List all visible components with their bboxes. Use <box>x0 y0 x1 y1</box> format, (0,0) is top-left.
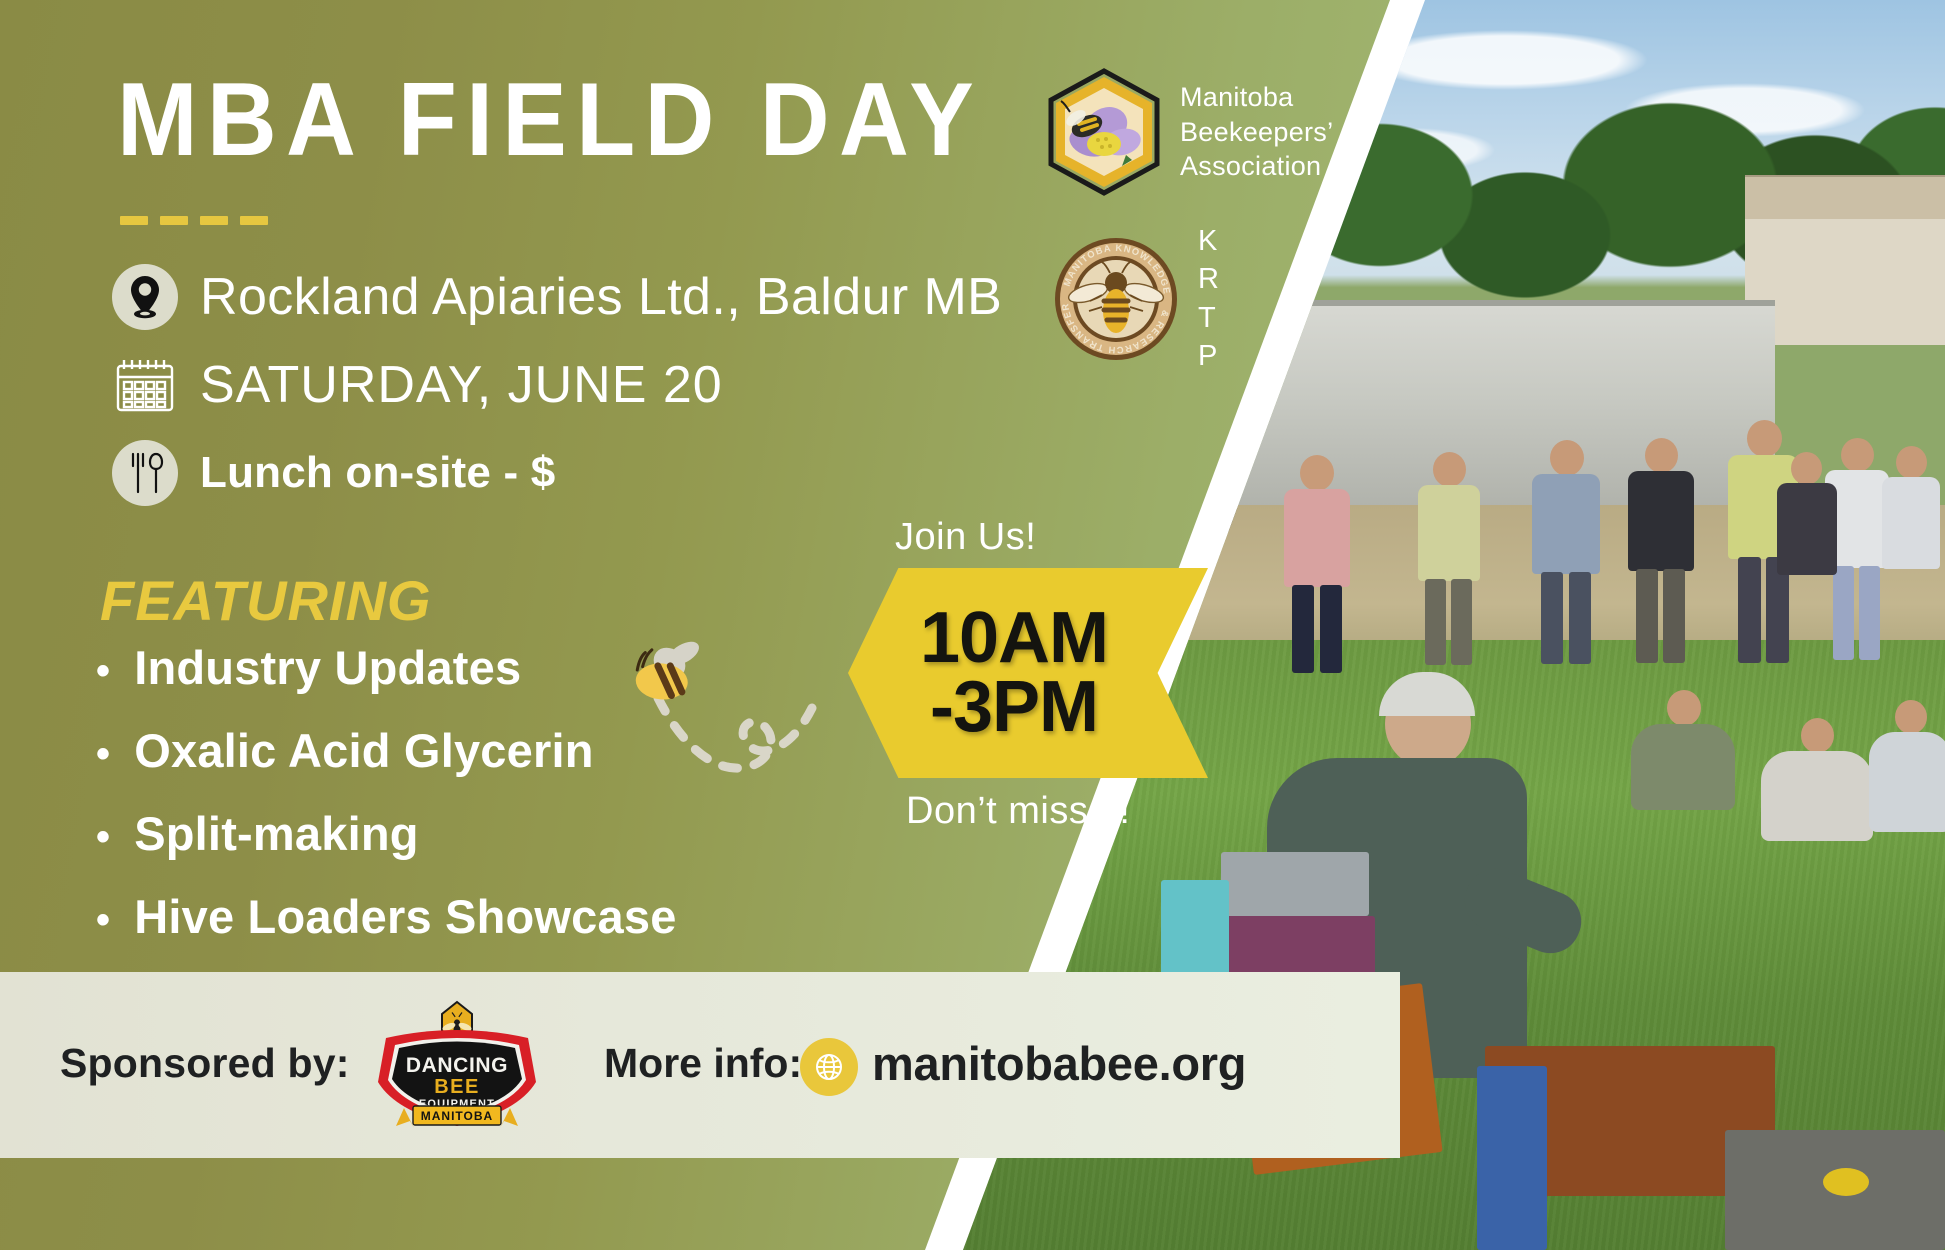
krtp-letters: K R T P <box>1198 222 1220 375</box>
mba-name-line-1: Manitoba <box>1180 80 1333 115</box>
location-text: Rockland Apiaries Ltd., Baldur MB <box>200 267 1002 327</box>
person-seated <box>1865 700 1945 850</box>
location-pin-icon <box>112 264 178 330</box>
poster-canvas: MBA FIELD DAY Rockland Apiaries Ltd., Ba… <box>0 0 1945 1250</box>
krtp-logo: MANITOBA KNOWLEDGE & RESEARCH TRANSFER P… <box>1052 222 1220 375</box>
bullet-icon: • <box>96 817 110 857</box>
bee-illustration-icon <box>600 630 850 790</box>
person <box>1880 446 1944 660</box>
person <box>1625 438 1697 666</box>
time-end: -3PM <box>930 673 1098 742</box>
list-item-label: Split-making <box>134 806 418 861</box>
person <box>1529 440 1603 666</box>
list-item: • Hive Loaders Showcase <box>96 889 816 944</box>
list-item: • Split-making <box>96 806 816 861</box>
cutlery-icon <box>112 440 178 506</box>
mba-name-line-2: Beekeepers’ <box>1180 115 1333 150</box>
join-us-text: Join Us! <box>895 516 1036 559</box>
svg-text:MANITOBA: MANITOBA <box>421 1109 493 1123</box>
date-text: SATURDAY, JUNE 20 <box>200 355 723 415</box>
person-seated <box>1755 718 1883 858</box>
mba-logo-name: Manitoba Beekeepers’ Association <box>1180 80 1333 184</box>
time-badge: 10AM -3PM <box>848 568 1208 778</box>
krtp-letter: K <box>1198 222 1220 260</box>
detail-row-lunch: Lunch on-site - $ <box>112 440 555 506</box>
bullet-icon: • <box>96 900 110 940</box>
hive-box <box>1221 852 1369 916</box>
svg-text:DANCING: DANCING <box>406 1054 508 1077</box>
time-start: 10AM <box>920 604 1108 673</box>
person <box>1280 455 1354 670</box>
detail-row-date: SATURDAY, JUNE 20 <box>112 352 723 418</box>
krtp-letter: T <box>1198 299 1220 337</box>
more-info-label: More info: <box>604 1040 802 1087</box>
globe-icon <box>800 1038 858 1096</box>
list-item-label: Hive Loaders Showcase <box>134 889 676 944</box>
svg-text:BEE: BEE <box>434 1076 480 1098</box>
hive-entrance-disc <box>1823 1168 1869 1196</box>
dont-miss-it-text: Don’t miss it! <box>906 790 1130 833</box>
title-dash-divider <box>120 216 268 225</box>
mba-logo: Manitoba Beekeepers’ Association <box>1046 68 1333 196</box>
circular-bee-badge-icon: MANITOBA KNOWLEDGE & RESEARCH TRANSFER P… <box>1052 235 1180 363</box>
hive-box <box>1477 1066 1547 1250</box>
page-title: MBA FIELD DAY <box>117 68 983 172</box>
hive-box <box>1161 880 1229 984</box>
bullet-icon: • <box>96 734 110 774</box>
person-seated <box>1625 690 1745 825</box>
mba-name-line-3: Association <box>1180 149 1333 184</box>
calendar-icon <box>112 352 178 418</box>
detail-row-location: Rockland Apiaries Ltd., Baldur MB <box>112 264 1002 330</box>
krtp-letter: P <box>1198 337 1220 375</box>
website-link[interactable]: manitobabee.org <box>872 1036 1246 1091</box>
krtp-letter: R <box>1198 260 1220 298</box>
sponsored-by-label: Sponsored by: <box>60 1040 350 1087</box>
person <box>1415 452 1485 667</box>
bullet-icon: • <box>96 651 110 691</box>
dancing-bee-shield-icon: DANCING BEE EQUIPMENT MANITOBA <box>368 1000 546 1135</box>
featuring-heading: FEATURING <box>100 568 432 633</box>
person <box>1775 452 1841 662</box>
hexagon-bee-crocus-icon <box>1046 68 1162 196</box>
list-item-label: Oxalic Acid Glycerin <box>134 723 593 778</box>
lunch-text: Lunch on-site - $ <box>200 448 555 498</box>
list-item-label: Industry Updates <box>134 640 521 695</box>
